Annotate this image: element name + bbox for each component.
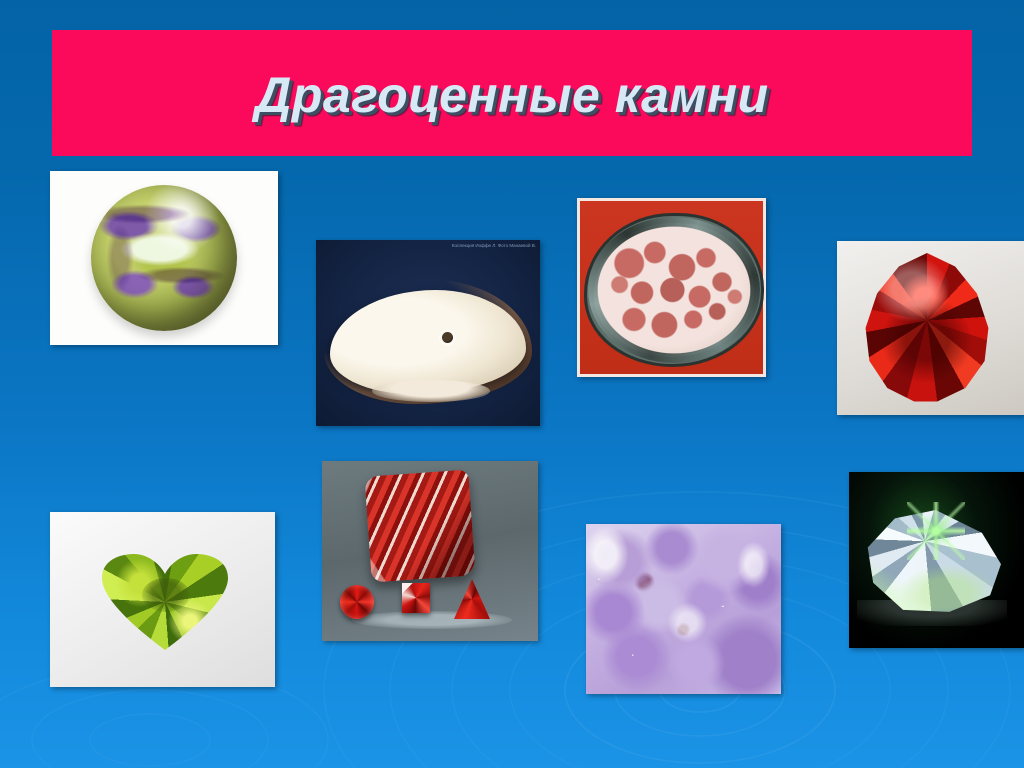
rough-ruby-set-image [322,461,538,641]
agate-cavity [442,332,453,343]
round-cut-ruby [340,585,374,619]
stone-shadow [352,611,512,629]
presentation-slide: Драгоценные камни Коллекция Иоффе Л. Фот… [0,0,1024,768]
sphere-shape [91,185,237,331]
photo-rough-ruby-set [322,461,538,641]
amethyst-druse-image [586,524,781,694]
photo-red-pear-gem [837,241,1024,415]
agate-base [372,380,490,402]
square-cut-ruby [402,583,430,613]
white-agate-image: Коллекция Иоффе Л. Фото Манаевой В. [316,240,540,426]
green-heart-peridot-image [50,512,275,687]
serpentine-sphere-image [50,171,278,345]
rough-ruby-crystal [364,470,475,583]
red-pear-gem-image [837,241,1024,415]
photo-agate-geode-slice [577,198,766,377]
brilliant-diamond-image [849,472,1024,648]
photo-serpentine-sphere [50,171,278,345]
page-title: Драгоценные камни [255,66,768,124]
heart-gem-core [142,578,190,612]
triangle-cut-ruby [454,579,490,619]
amethyst-highlights [586,524,781,694]
geode-frame [577,198,766,377]
photo-amethyst-druse [586,524,781,694]
photo-watermark: Коллекция Иоффе Л. Фото Манаевой В. [452,243,536,250]
geode-rim [588,217,760,363]
title-banner: Драгоценные камни [52,30,972,156]
photo-green-heart-peridot [50,512,275,687]
photo-white-agate: Коллекция Иоффе Л. Фото Манаевой В. [316,240,540,426]
pear-cut-gem [863,253,991,403]
photo-brilliant-diamond [849,472,1024,648]
